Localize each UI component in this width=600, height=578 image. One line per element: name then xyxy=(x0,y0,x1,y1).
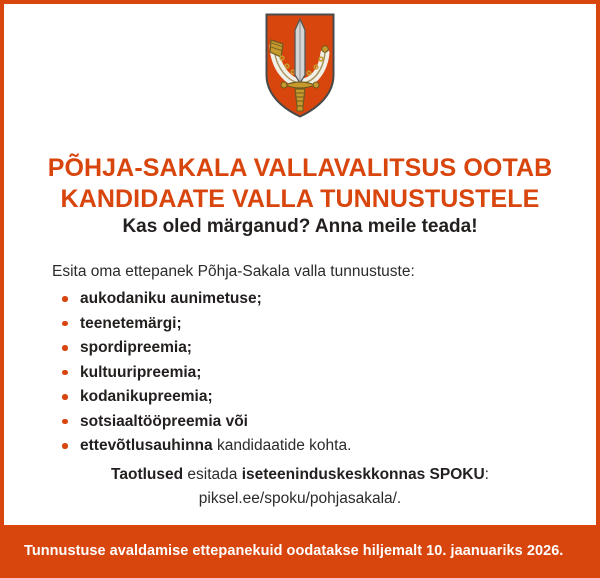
list-item: teenetemärgi; xyxy=(52,313,552,335)
awards-list: aukodaniku aunimetuse; teenetemärgi; spo… xyxy=(52,288,552,457)
award-label: kultuuripreemia; xyxy=(80,364,201,381)
deadline-text: Tunnustuse avaldamise ettepanekuid oodat… xyxy=(24,542,563,561)
bullet-dot-icon xyxy=(62,345,68,351)
spoku-url[interactable]: piksel.ee/spoku/pohjasakala/. xyxy=(4,487,596,511)
bullet-dot-icon xyxy=(62,394,68,400)
intro-text: Esita oma ettepanek Põhja-Sakala valla t… xyxy=(52,262,552,282)
award-tail: kandidaatide kohta. xyxy=(213,437,352,454)
list-item: aukodaniku aunimetuse; xyxy=(52,288,552,310)
bullet-dot-icon xyxy=(62,419,68,425)
apply-strong-1: Taotlused xyxy=(111,466,183,483)
bullet-dot-icon xyxy=(62,370,68,376)
shield-icon xyxy=(265,13,335,118)
list-item: spordipreemia; xyxy=(52,337,552,359)
apply-strong-2: iseteeninduskeskkonnas SPOKU xyxy=(242,466,485,483)
headline-line-1: PÕHJA-SAKALA VALLAVALITSUS OOTAB xyxy=(4,153,596,184)
footer-band: Tunnustuse avaldamise ettepanekuid oodat… xyxy=(0,525,600,578)
body-block: Esita oma ettepanek Põhja-Sakala valla t… xyxy=(52,262,552,460)
list-item: ettevõtlusauhinna kandidaatide kohta. xyxy=(52,435,552,457)
coat-of-arms xyxy=(4,13,596,118)
apply-plain-2: : xyxy=(485,466,489,483)
bullet-dot-icon xyxy=(62,443,68,449)
apply-instructions: Taotlused esitada iseteeninduskeskkonnas… xyxy=(4,463,596,511)
award-label: spordipreemia; xyxy=(80,339,192,356)
award-label: teenetemärgi; xyxy=(80,315,182,332)
bullet-dot-icon xyxy=(62,321,68,327)
poster-root: PÕHJA-SAKALA VALLAVALITSUS OOTAB KANDIDA… xyxy=(0,0,600,578)
bullet-dot-icon xyxy=(62,296,68,302)
headline-line-2: KANDIDAATE VALLA TUNNUSTUSTELE xyxy=(4,184,596,215)
list-item: sotsiaaltööpreemia või xyxy=(52,411,552,433)
award-label: aukodaniku aunimetuse; xyxy=(80,290,262,307)
list-item: kodanikupreemia; xyxy=(52,386,552,408)
list-item: kultuuripreemia; xyxy=(52,362,552,384)
award-label: kodanikupreemia; xyxy=(80,388,213,405)
apply-plain-1: esitada xyxy=(183,466,242,483)
award-label: ettevõtlusauhinna xyxy=(80,437,213,454)
page-title: PÕHJA-SAKALA VALLAVALITSUS OOTAB KANDIDA… xyxy=(4,153,596,215)
subtitle: Kas oled märganud? Anna meile teada! xyxy=(4,215,596,239)
award-label: sotsiaaltööpreemia või xyxy=(80,413,248,430)
